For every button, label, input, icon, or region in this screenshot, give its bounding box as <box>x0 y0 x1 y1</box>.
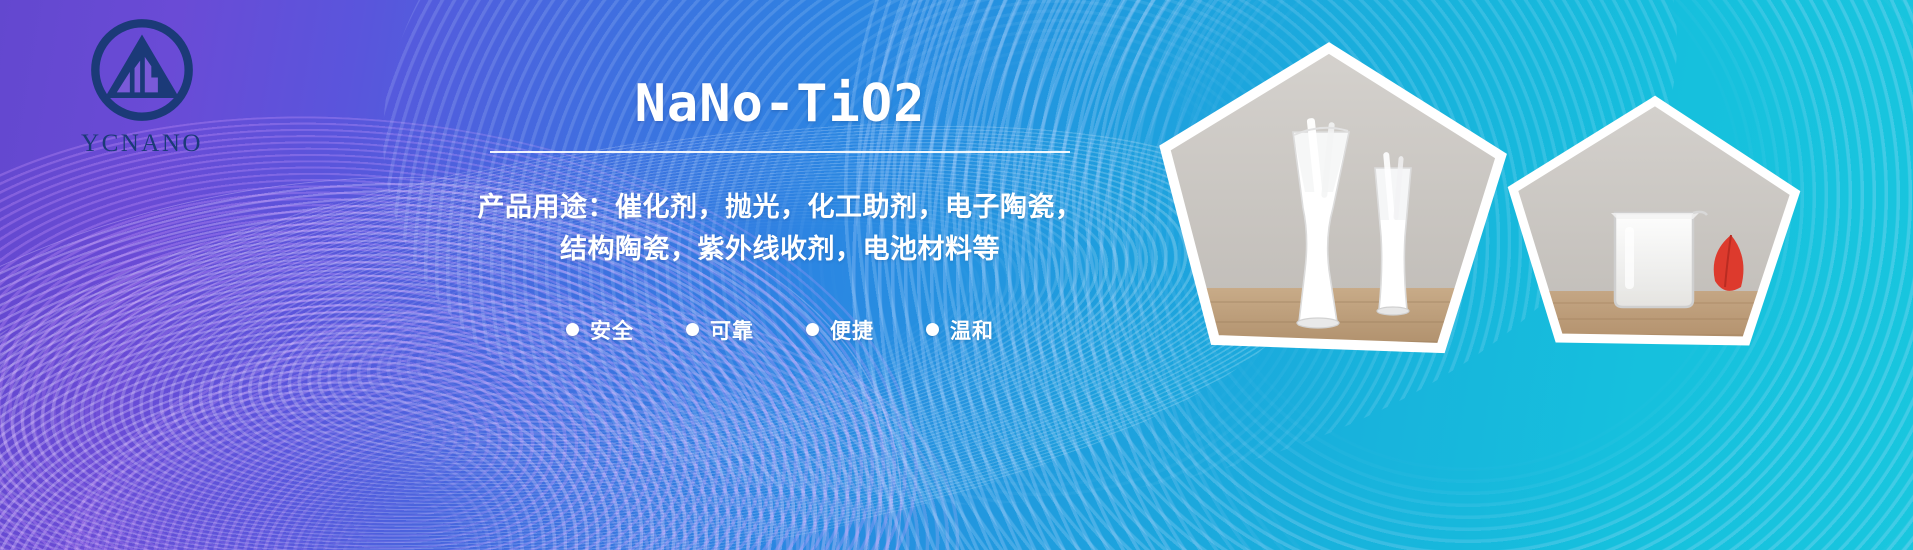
product-photo-vases[interactable] <box>1153 40 1513 370</box>
feature-label: 温和 <box>950 315 994 345</box>
ycnano-mountain-circle-logo <box>86 14 198 126</box>
product-usage-text: 产品用途：催化剂，抛光，化工助剂，电子陶瓷， 结构陶瓷，紫外线收剂，电池材料等 <box>470 187 1090 271</box>
bullet-dot-icon <box>806 323 819 336</box>
title-divider <box>490 151 1070 153</box>
product-photo-beaker[interactable] <box>1503 95 1803 365</box>
product-usage-line-2: 结构陶瓷，紫外线收剂，电池材料等 <box>470 229 1090 271</box>
feature-label: 可靠 <box>710 315 754 345</box>
feature-label: 便捷 <box>830 315 874 345</box>
feature-list: 安全 可靠 便捷 温和 <box>566 315 994 345</box>
feature-item-3: 温和 <box>926 315 994 345</box>
bullet-dot-icon <box>566 323 579 336</box>
brand-logo[interactable]: YCNANO <box>42 14 242 158</box>
feature-item-0: 安全 <box>566 315 634 345</box>
feature-item-1: 可靠 <box>686 315 754 345</box>
page-title: NaNo-TiO2 <box>635 78 926 130</box>
product-banner: YCNANO NaNo-TiO2 产品用途：催化剂，抛光，化工助剂，电子陶瓷， … <box>0 0 1913 550</box>
feature-label: 安全 <box>590 315 634 345</box>
bullet-dot-icon <box>926 323 939 336</box>
hero-content: NaNo-TiO2 产品用途：催化剂，抛光，化工助剂，电子陶瓷， 结构陶瓷，紫外… <box>430 0 1130 550</box>
feature-item-2: 便捷 <box>806 315 874 345</box>
bullet-dot-icon <box>686 323 699 336</box>
product-usage-line-1: 产品用途：催化剂，抛光，化工助剂，电子陶瓷， <box>470 187 1090 229</box>
logo-wordmark: YCNANO <box>42 130 242 158</box>
product-photo-group <box>1133 0 1913 550</box>
